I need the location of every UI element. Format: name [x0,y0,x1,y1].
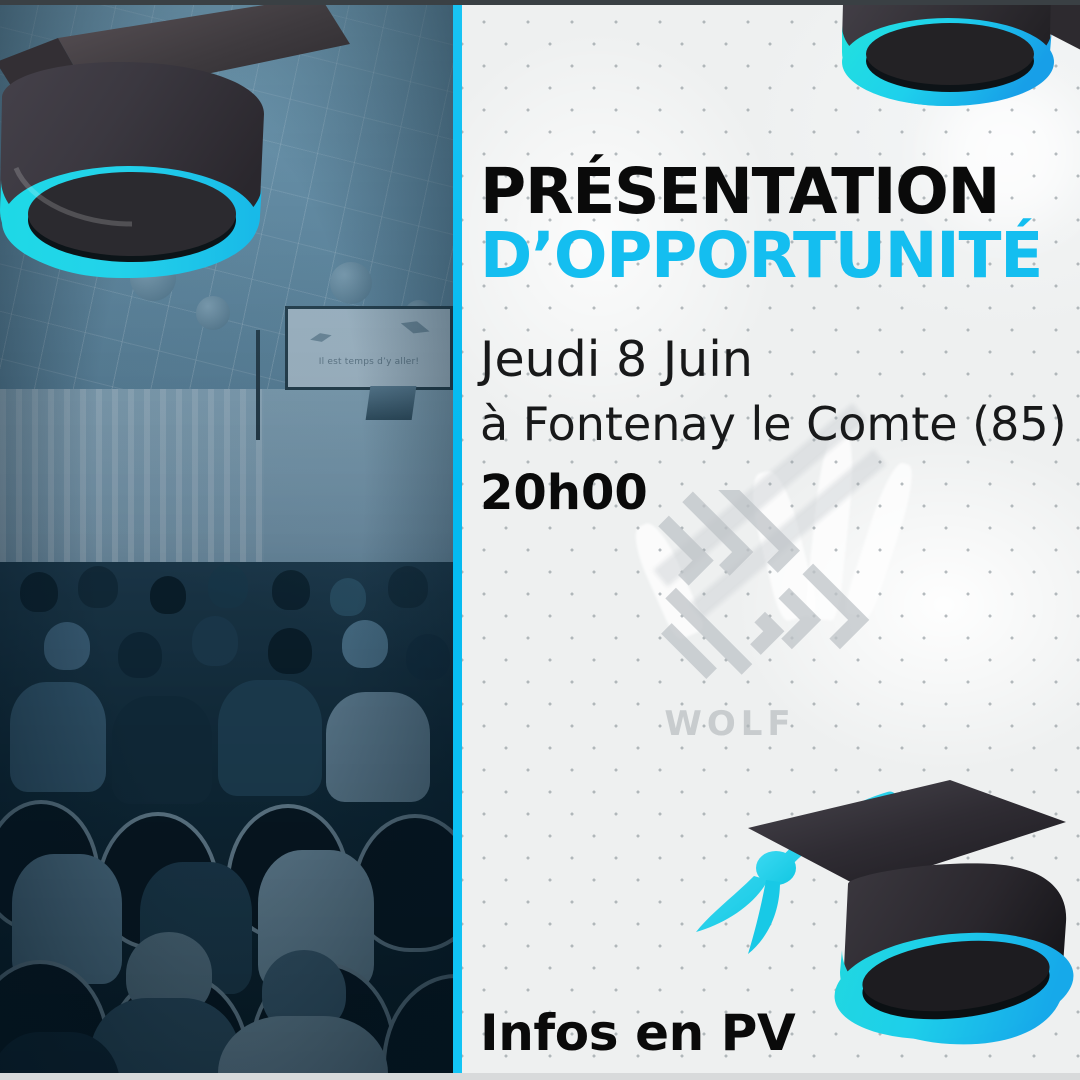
graduation-cap-top-left [0,0,360,306]
graduation-cap-bottom-right [676,772,1080,1080]
cyan-divider [453,0,462,1080]
event-location: à Fontenay le Comte (85) [480,400,1067,450]
graduation-cap-icon [820,0,1080,204]
event-time: 20h00 [480,468,648,520]
frame-strip-bottom [0,1073,1080,1080]
poster-canvas: Il est temps d’y aller! [0,0,1080,1080]
page-title-line2: D’OPPORTUNITÉ [480,224,1042,287]
graduation-cap-tassel-icon [676,772,1080,1080]
graduation-cap-icon [0,0,360,306]
frame-strip-top [0,0,1080,5]
graduation-cap-top-right [820,0,1080,204]
event-date: Jeudi 8 Juin [480,334,753,387]
